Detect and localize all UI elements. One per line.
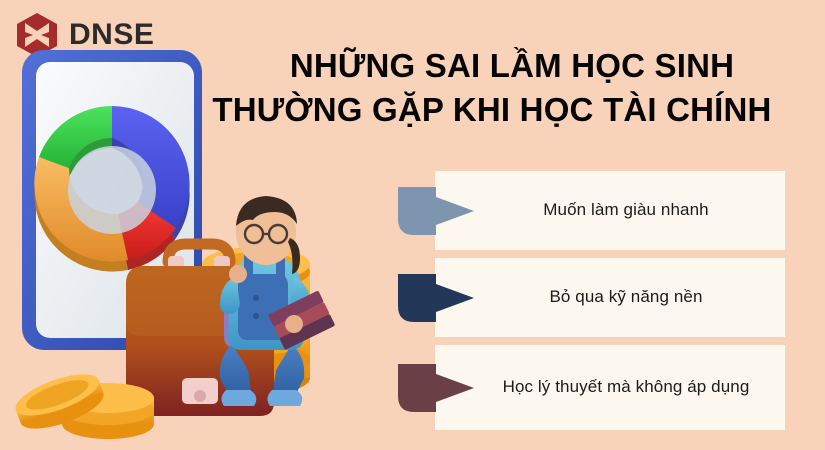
list-item-bar: Bỏ qua kỹ năng nền <box>435 258 785 337</box>
list-item[interactable]: Học lý thuyết mà không áp dụng <box>396 345 788 430</box>
list-item[interactable]: Muốn làm giàu nhanh <box>396 171 788 250</box>
list-item-label: Học lý thuyết mà không áp dụng <box>503 376 750 398</box>
list-item-bar: Học lý thuyết mà không áp dụng <box>435 345 785 430</box>
arrow-right-icon <box>396 270 476 326</box>
illustration <box>0 26 390 450</box>
list-item[interactable]: Bỏ qua kỹ năng nền <box>396 258 788 337</box>
finance-student-illustration <box>0 26 390 450</box>
list-item-label: Bỏ qua kỹ năng nền <box>549 286 702 308</box>
arrow-right-icon <box>396 360 476 416</box>
arrow-right-icon <box>396 183 476 239</box>
list-item-label: Muốn làm giàu nhanh <box>543 199 708 221</box>
student-character <box>220 196 336 406</box>
list-item-bar: Muốn làm giàu nhanh <box>435 171 785 250</box>
donut-chart-3d <box>34 106 189 272</box>
mistake-list: Muốn làm giàu nhanh Bỏ qua kỹ năng nền H… <box>396 171 788 430</box>
infographic-canvas: DNSE NHỮNG SAI LẦM HỌC SINH THƯỜNG GẶP K… <box>0 0 825 450</box>
